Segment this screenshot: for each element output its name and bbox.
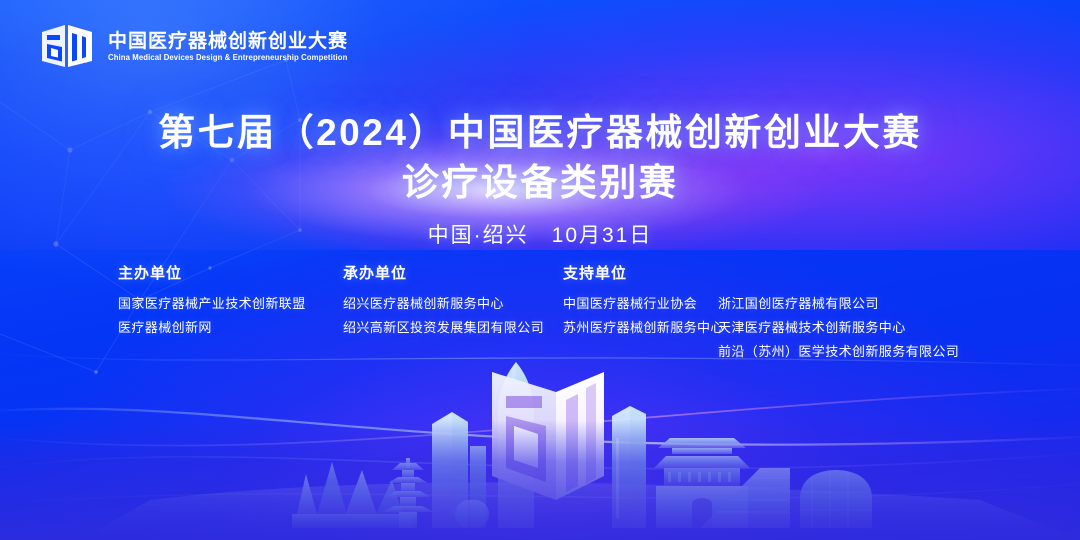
title-block: 第七届（2024）中国医疗器械创新创业大赛 诊疗设备类别赛 中国·绍兴 10月3… <box>0 108 1080 250</box>
organizer-name: 绍兴高新区投资发展集团有限公司 <box>343 316 563 340</box>
brand-logo: 中国医疗器械创新创业大赛 China Medical Devices Desig… <box>38 20 355 74</box>
organizer-columns: 主办单位国家医疗器械产业技术创新联盟医疗器械创新网承办单位绍兴医疗器械创新服务中… <box>118 264 959 364</box>
organizer-name: 中国医疗器械行业协会 <box>563 292 718 316</box>
organizer-name: 浙江国创医疗器械有限公司 <box>718 292 959 316</box>
organizer-name: 前沿（苏州）医学技术创新服务有限公司 <box>718 340 959 364</box>
organizer-name: 天津医疗器械技术创新服务中心 <box>718 316 959 340</box>
brand-name-en: China Medical Devices Design & Entrepren… <box>108 54 347 62</box>
organizer-heading: 承办单位 <box>343 264 563 284</box>
event-location-date: 中国·绍兴 10月31日 <box>0 222 1080 250</box>
organizer-column: 承办单位绍兴医疗器械创新服务中心绍兴高新区投资发展集团有限公司 <box>343 264 563 340</box>
organizer-name: 国家医疗器械产业技术创新联盟 <box>118 292 343 316</box>
organizer-name: 医疗器械创新网 <box>118 316 343 340</box>
organizer-column: 支持单位中国医疗器械行业协会苏州医疗器械创新服务中心 <box>563 264 718 340</box>
foreground-base <box>0 420 1080 540</box>
open-book-logo-icon <box>38 20 96 74</box>
page-title-line-2: 诊疗设备类别赛 <box>0 158 1080 208</box>
organizer-column: 主办单位国家医疗器械产业技术创新联盟医疗器械创新网 <box>118 264 343 340</box>
organizer-name: 绍兴医疗器械创新服务中心 <box>343 292 563 316</box>
organizer-heading: 支持单位 <box>563 264 718 284</box>
organizer-column: 浙江国创医疗器械有限公司天津医疗器械技术创新服务中心前沿（苏州）医学技术创新服务… <box>718 264 959 364</box>
page-title-line-1: 第七届（2024）中国医疗器械创新创业大赛 <box>0 108 1080 158</box>
brand-text-group: 中国医疗器械创新创业大赛 China Medical Devices Desig… <box>108 32 355 62</box>
organizer-heading: 主办单位 <box>118 264 343 284</box>
organizer-name: 苏州医疗器械创新服务中心 <box>563 316 718 340</box>
brand-name-cn: 中国医疗器械创新创业大赛 <box>108 32 355 52</box>
poster-canvas: 中国医疗器械创新创业大赛 China Medical Devices Desig… <box>0 0 1080 540</box>
